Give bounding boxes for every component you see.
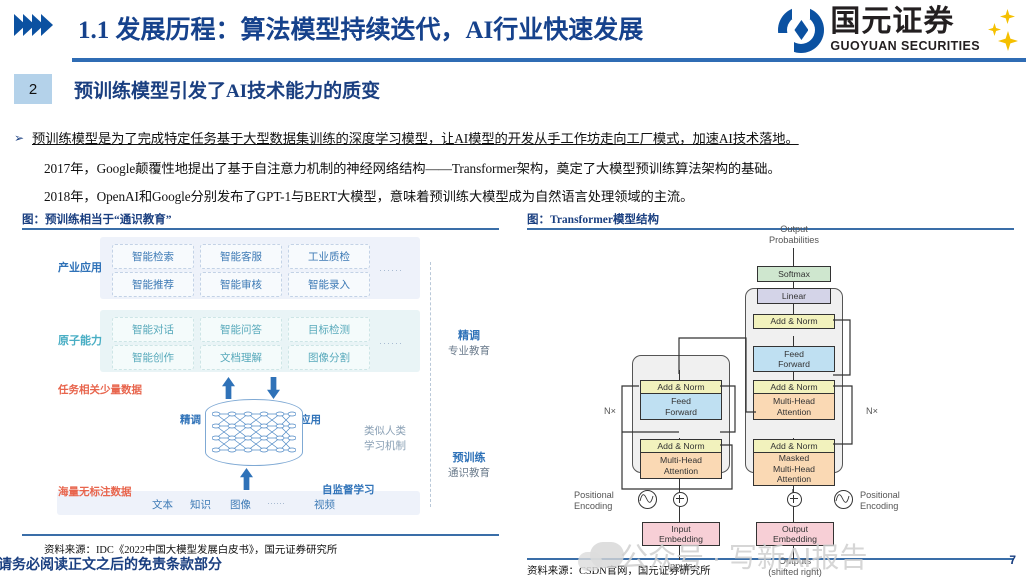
row-label-atomic: 原子能力: [58, 332, 102, 348]
label-human-like-line2: 学习机制: [364, 439, 406, 454]
label-human-like-line1: 类似人类: [364, 424, 406, 439]
encoder-nx-label: N×: [598, 406, 622, 417]
left-source-divider: [22, 534, 499, 536]
logo-mark-icon: [778, 7, 824, 53]
label-mass-data: 海量无标注数据: [58, 484, 132, 499]
left-caption-divider: [22, 228, 499, 230]
header-divider: [72, 58, 1026, 62]
atomic-ellipsis: ······: [379, 338, 403, 348]
model-cylinder-icon: [205, 399, 303, 466]
pretraining-general-education-diagram: 产业应用 原子能力 智能检索 智能客服 工业质检 智能推荐 智能审核 智能录入 …: [22, 232, 500, 532]
pos-dec-line1: Positional: [860, 490, 922, 501]
industry-ellipsis: ······: [379, 265, 403, 275]
stage-pretrain: 预训练 通识教育: [440, 449, 498, 480]
label-task-data: 任务相关少量数据: [58, 382, 142, 397]
pos-enc-line1: Positional: [574, 490, 632, 501]
page-number: 7: [1009, 553, 1016, 567]
stage-pretrain-title: 预训练: [440, 449, 498, 465]
data-cell-ellipsis: ······: [267, 498, 285, 508]
stage-connector-dashed: [430, 262, 432, 507]
chip-industry-5: 智能审核: [200, 272, 282, 297]
chip-atomic-6: 图像分割: [288, 345, 370, 370]
paragraph-2: 2017年，Google颠覆性地提出了基于自注意力机制的神经网络结构——Tran…: [44, 158, 781, 177]
stage-pretrain-sub: 通识教育: [440, 465, 498, 480]
transformer-architecture-diagram: Output Probabilities Softmax Linear Add …: [560, 234, 980, 554]
stage-finetune-title: 精调: [440, 327, 498, 343]
company-logo: 国元证券 GUOYUAN SECURITIES: [778, 2, 1020, 58]
stage-finetune-sub: 专业教育: [440, 343, 498, 358]
left-figure-caption: 图：预训练相当于“通识教育”: [22, 211, 172, 227]
chip-atomic-2: 智能问答: [200, 317, 282, 342]
label-finetune: 精调: [180, 412, 201, 427]
watermark-text: 公众号 · 写新AI报告: [620, 536, 867, 576]
arrow-up-bottom-icon: [240, 468, 253, 490]
residual-connections: [560, 234, 980, 564]
label-self-supervised: 自监督学习: [322, 482, 375, 497]
page-title: 1.1 发展历程：算法模型持续迭代，AI行业快速发展: [78, 10, 643, 46]
chip-industry-4: 智能推荐: [112, 272, 194, 297]
chip-industry-2: 智能客服: [200, 244, 282, 269]
stage-finetune: 精调 专业教育: [440, 327, 498, 358]
chip-industry-3: 工业质检: [288, 244, 370, 269]
decoder-nx-label: N×: [860, 406, 884, 417]
sine-wave-icon: [638, 490, 657, 509]
in-emb-line1: Input: [671, 524, 690, 535]
encoder-add-icon: [673, 492, 688, 507]
data-cell-3: 图像: [230, 497, 251, 512]
neural-net-icon: [212, 408, 296, 458]
footer-disclaimer: 请务必阅读正文之后的免责条款部分: [0, 554, 222, 574]
data-cell-4: 视频: [314, 497, 335, 512]
label-human-like: 类似人类 学习机制: [364, 424, 406, 454]
pos-enc-line2: Encoding: [574, 501, 632, 512]
right-figure-caption: 图：Transformer模型结构: [527, 211, 659, 227]
stars-icon: [986, 7, 1020, 53]
page-header: 1.1 发展历程：算法模型持续迭代，AI行业快速发展 国元证券 GUOYUAN …: [0, 0, 1026, 62]
decoder-add-icon: [787, 492, 802, 507]
encoder-positional-encoding-label: Positional Encoding: [574, 490, 632, 512]
arrow-down-icon: [267, 377, 280, 399]
logo-name-cn: 国元证券: [830, 7, 980, 37]
chip-atomic-5: 文档理解: [200, 345, 282, 370]
sine-wave-icon-decoder: [834, 490, 853, 509]
pos-dec-line2: Encoding: [860, 501, 922, 512]
chip-industry-1: 智能检索: [112, 244, 194, 269]
chevron-group-icon: [14, 14, 50, 36]
logo-name-en: GUOYUAN SECURITIES: [830, 40, 980, 53]
section-title: 预训练模型引发了AI技术能力的质变: [74, 76, 380, 103]
chip-atomic-1: 智能对话: [112, 317, 194, 342]
label-apply: 应用: [300, 412, 321, 427]
decoder-positional-encoding-label: Positional Encoding: [860, 490, 922, 512]
paragraph-3: 2018年，OpenAI和Google分别发布了GPT-1与BERT大模型，意味…: [44, 186, 693, 205]
out-emb-line1: Output: [782, 524, 808, 535]
row-label-industry: 产业应用: [58, 259, 102, 275]
chip-atomic-4: 智能创作: [112, 345, 194, 370]
data-cell-2: 知识: [190, 497, 211, 512]
paragraph-1: 预训练模型是为了完成特定任务基于大型数据集训练的深度学习模型，让AI模型的开发从…: [32, 128, 799, 147]
section-number-badge: 2: [14, 74, 52, 104]
arrow-up-icon: [222, 377, 235, 399]
chevron-right-icon: [41, 14, 53, 36]
data-cell-1: 文本: [152, 497, 173, 512]
chip-atomic-3: 目标检测: [288, 317, 370, 342]
chip-industry-6: 智能录入: [288, 272, 370, 297]
bullet-marker-icon: ➢: [14, 131, 24, 145]
wechat-bubble-small-icon: [578, 552, 602, 571]
